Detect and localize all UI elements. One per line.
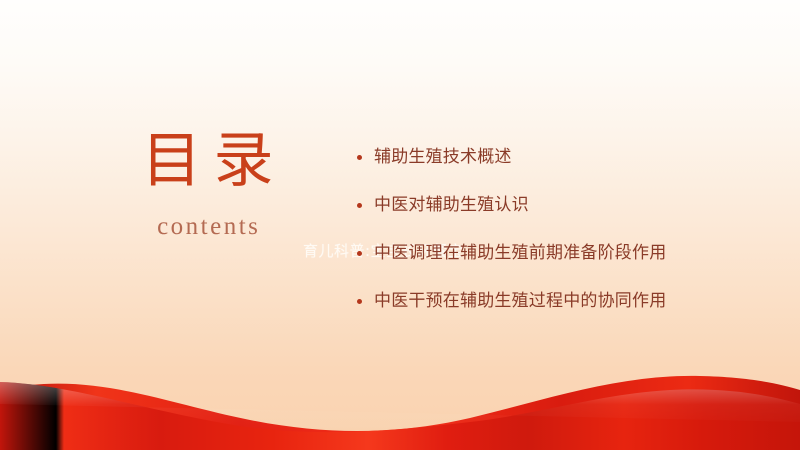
bullet-dot-icon <box>357 155 362 160</box>
page-title: 目录 <box>90 128 325 194</box>
bullet-dot-icon <box>357 299 362 304</box>
page-subtitle: contents <box>90 212 325 242</box>
bottom-wave-decoration <box>0 360 800 450</box>
presentation-slide: 育儿科普:宝宝长牙餐宝 目录 contents 辅助生殖技术概述 中医对辅助生殖… <box>0 0 800 450</box>
bullet-dot-icon <box>357 251 362 256</box>
list-item[interactable]: 中医对辅助生殖认识 <box>352 188 724 223</box>
title-block: 目录 contents <box>90 128 325 242</box>
list-item[interactable]: 中医干预在辅助生殖过程中的协同作用 <box>352 284 724 319</box>
table-of-contents-list: 辅助生殖技术概述 中医对辅助生殖认识 中医调理在辅助生殖前期准备阶段作用 中医干… <box>352 140 724 319</box>
bullet-dot-icon <box>357 203 362 208</box>
list-item-label: 中医对辅助生殖认识 <box>374 195 529 215</box>
list-item-label: 辅助生殖技术概述 <box>374 147 512 167</box>
list-item-label: 中医干预在辅助生殖过程中的协同作用 <box>374 291 666 311</box>
list-item-label: 中医调理在辅助生殖前期准备阶段作用 <box>374 243 666 263</box>
list-item[interactable]: 中医调理在辅助生殖前期准备阶段作用 <box>352 236 724 271</box>
list-item[interactable]: 辅助生殖技术概述 <box>352 140 724 175</box>
